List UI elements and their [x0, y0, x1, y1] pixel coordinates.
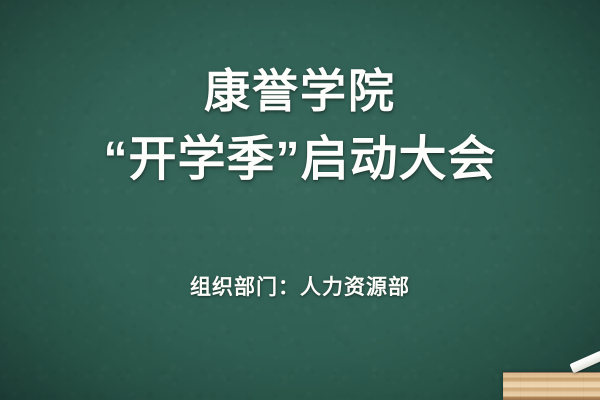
chalk-ledge	[503, 372, 600, 400]
slide-title-line-2: “开学季”启动大会	[0, 136, 600, 184]
wood-grain-texture	[503, 372, 600, 400]
slide-title-line-1: 康誉学院	[0, 68, 600, 114]
slide-content: 康誉学院 “开学季”启动大会 组织部门：人力资源部	[0, 0, 600, 400]
presentation-slide: 康誉学院 “开学季”启动大会 组织部门：人力资源部	[0, 0, 600, 400]
wood-ledge-highlight	[503, 372, 600, 374]
slide-subtitle-organizing-department: 组织部门：人力资源部	[0, 277, 600, 298]
